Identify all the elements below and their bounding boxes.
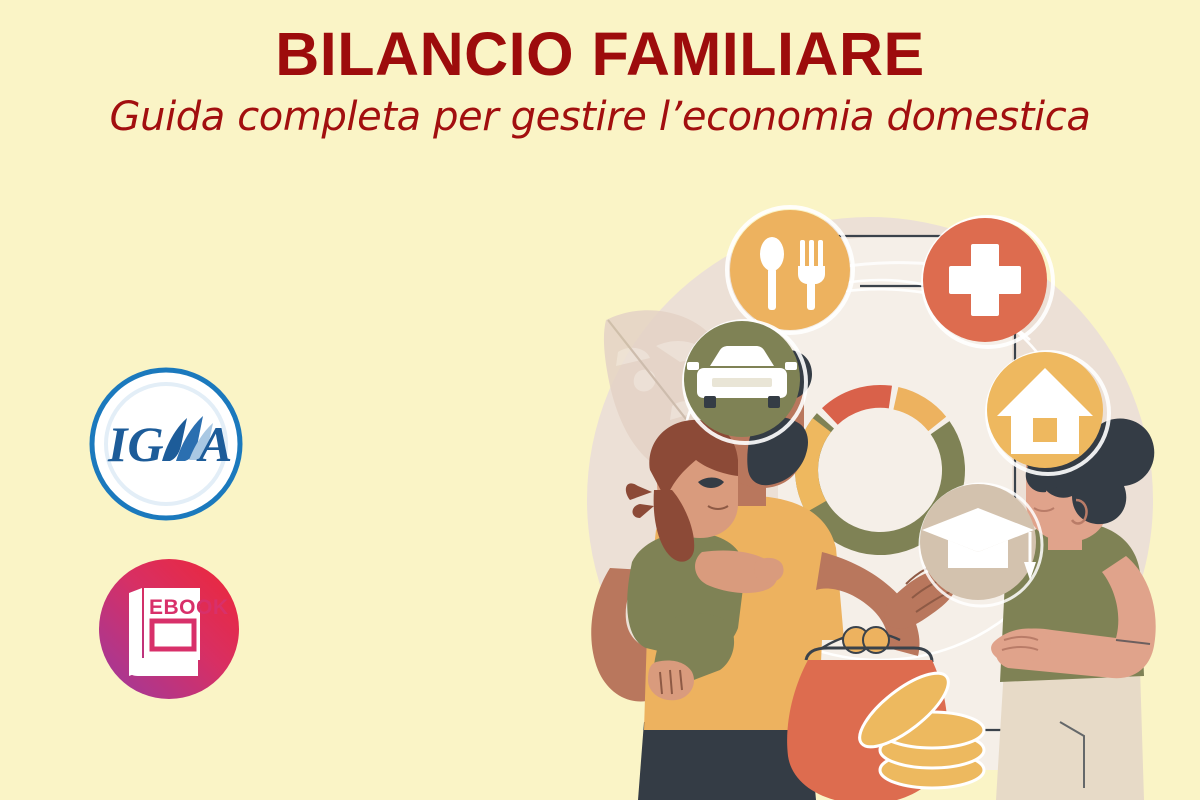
ebook-cover: BILANCIO FAMILIARE Guida completa per ge… (0, 0, 1200, 800)
health-icon (923, 217, 1053, 347)
page-title: BILANCIO FAMILIARE (0, 24, 1200, 85)
mother-pants (996, 668, 1144, 800)
header-block: BILANCIO FAMILIARE Guida completa per ge… (0, 24, 1200, 139)
education-icon (920, 484, 1042, 606)
igma-logo: IG A (86, 364, 246, 524)
home-icon (987, 352, 1109, 474)
food-icon (727, 207, 853, 333)
family-budget-illustration (560, 170, 1200, 800)
ebook-badge-label: EBOOK (149, 596, 229, 619)
ebook-badge: EBOOK (98, 558, 240, 700)
logo-text-ig: IG (107, 416, 164, 472)
logo-text-a: A (196, 416, 232, 472)
transport-icon (684, 321, 806, 443)
page-subtitle: Guida completa per gestire l’economia do… (0, 95, 1200, 139)
